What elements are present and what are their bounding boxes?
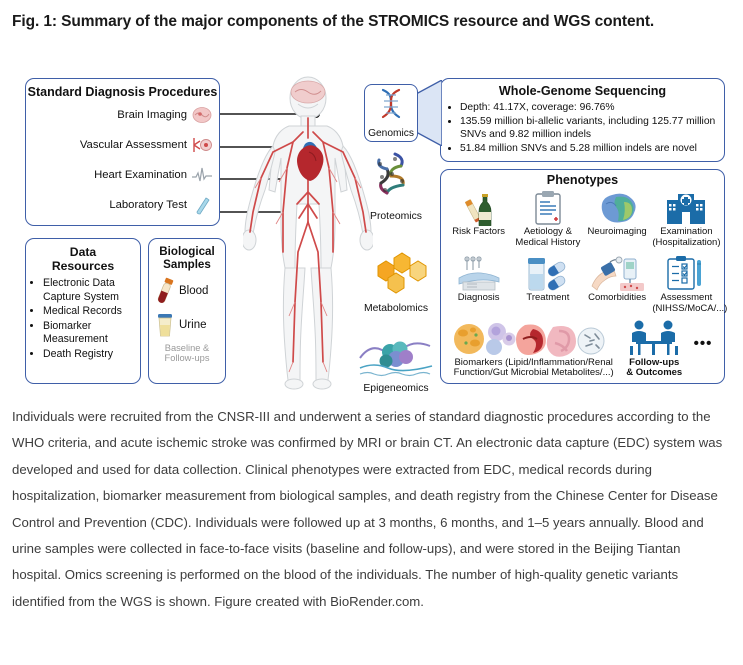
sdp-row-heart-examination[interactable]: Heart Examination [26, 161, 219, 189]
list-item: Depth: 41.17X, coverage: 96.76% [460, 101, 717, 115]
omics-genomics-label: Genomics [365, 128, 417, 139]
data-resources-list: Electronic Data Capture System Medical R… [26, 277, 140, 361]
phenotypes-title: Phenotypes [441, 173, 724, 187]
nucleosome-icon [356, 334, 436, 378]
phenotype-label: Assessment (NIHSS/MoCA/...) [652, 293, 720, 314]
phenotypes-row-1: Risk Factors Aetiology & Medical History [441, 188, 724, 248]
phenotype-assessment[interactable]: Assessment (NIHSS/MoCA/...) [652, 254, 720, 314]
biological-samples-title-line1: Biological [149, 245, 225, 258]
phenotype-label: Comorbidities [583, 293, 651, 304]
checklist-icon [652, 254, 720, 292]
biological-sample-blood[interactable]: Blood [149, 274, 225, 308]
interview-icon [624, 319, 684, 357]
phenotype-label: Biomarkers (Lipid/Inflammation/Renal Fun… [445, 358, 622, 379]
omics-epigenomics[interactable]: Epigeneomics [348, 334, 444, 394]
brain-scan-icon [583, 188, 651, 226]
phenotype-comorbidities[interactable]: Comorbidities [583, 254, 651, 304]
biological-sample-urine[interactable]: Urine [149, 308, 225, 342]
wgs-bullet-list: Depth: 41.17X, coverage: 96.76% 135.59 m… [441, 101, 724, 155]
sdp-label-brain-imaging: Brain Imaging [117, 109, 187, 121]
phenotype-neuroimaging[interactable]: Neuroimaging [583, 188, 651, 238]
phenotype-follow-ups-outcomes[interactable]: Follow-ups& Outcomes [624, 319, 684, 379]
urine-cup-icon [154, 310, 176, 340]
clipboard-icon [514, 188, 582, 226]
phenotype-label: Examination (Hospitalization) [652, 227, 720, 248]
phenotype-diagnosis[interactable]: Diagnosis [445, 254, 513, 304]
phenotype-label: Risk Factors [445, 227, 513, 238]
biological-samples-note: Baseline & Follow-ups [149, 343, 225, 364]
brain-icon [191, 105, 213, 125]
biological-samples-title: Biological Samples [149, 245, 225, 272]
standard-diagnosis-procedures-panel: Standard Diagnosis Procedures Brain Imag… [25, 78, 220, 226]
biological-sample-urine-label: Urine [179, 319, 206, 331]
sdp-row-vascular-assessment[interactable]: Vascular Assessment [26, 131, 219, 159]
figure-title: Fig. 1: Summary of the major components … [0, 0, 690, 34]
phenotype-label: Diagnosis [445, 293, 513, 304]
phenotype-label: Treatment [514, 293, 582, 304]
sdp-label-heart-examination: Heart Examination [94, 169, 187, 181]
whole-genome-sequencing-panel: Whole-Genome Sequencing Depth: 41.17X, c… [440, 78, 725, 162]
phenotype-biomarkers[interactable]: Biomarkers (Lipid/Inflammation/Renal Fun… [445, 319, 622, 379]
sdp-title: Standard Diagnosis Procedures [26, 85, 219, 99]
data-resources-title-line2: Resources [26, 259, 140, 273]
phenotype-label: Follow-ups& Outcomes [624, 358, 684, 379]
data-resources-panel: Data Resources Electronic Data Capture S… [25, 238, 141, 384]
list-item: 51.84 million SNVs and 5.28 million inde… [460, 142, 717, 156]
blood-pressure-icon [583, 254, 651, 292]
biological-samples-note-line2: Follow-ups [149, 353, 225, 364]
omics-genomics[interactable]: Genomics [364, 84, 418, 142]
phenotype-risk-factors[interactable]: Risk Factors [445, 188, 513, 238]
biological-sample-blood-label: Blood [179, 285, 208, 297]
cigarette-bottle-icon [445, 188, 513, 226]
list-item: Electronic Data Capture System [43, 277, 136, 304]
biological-samples-title-line2: Samples [149, 258, 225, 271]
phenotype-examination-hospitalization[interactable]: Examination (Hospitalization) [652, 188, 720, 248]
biological-samples-note-line1: Baseline & [149, 343, 225, 354]
list-item: Medical Records [43, 305, 136, 319]
sdp-label-vascular-assessment: Vascular Assessment [80, 139, 187, 151]
list-item: Death Registry [43, 348, 136, 362]
phenotype-treatment[interactable]: Treatment [514, 254, 582, 304]
list-item: Biomarker Measurement [43, 320, 136, 347]
omics-proteomics[interactable]: Proteomics [348, 150, 444, 222]
phenotype-aetiology-medical-history[interactable]: Aetiology & Medical History [514, 188, 582, 248]
omics-epigenomics-label: Epigeneomics [348, 383, 444, 394]
hexagon-molecules-icon [360, 252, 432, 298]
omics-metabolomics[interactable]: Metabolomics [348, 252, 444, 314]
phenotype-label: Neuroimaging [583, 227, 651, 238]
phenotype-label: Aetiology & Medical History [514, 227, 582, 248]
list-item: 135.59 million bi-allelic variants, incl… [460, 115, 717, 142]
ecg-icon [191, 165, 213, 185]
dna-helix-icon [371, 85, 411, 125]
phenotypes-panel: Phenotypes [440, 169, 725, 384]
sdp-row-laboratory-test[interactable]: Laboratory Test [26, 191, 219, 219]
vascular-ultrasound-icon [191, 135, 213, 155]
biological-samples-panel: Biological Samples Blood Urine Baseli [148, 238, 226, 384]
phenotypes-row-2: Diagnosis [441, 254, 724, 314]
phenotype-more[interactable]: ••• [686, 319, 720, 352]
data-resources-title-line1: Data [26, 245, 140, 259]
exam-table-icon [445, 254, 513, 292]
wgs-title: Whole-Genome Sequencing [441, 84, 724, 98]
data-resources-title: Data Resources [26, 245, 140, 273]
ellipsis-icon: ••• [686, 335, 720, 352]
blood-tube-icon [154, 276, 176, 306]
sdp-row-brain-imaging[interactable]: Brain Imaging [26, 101, 219, 129]
protein-structure-icon [365, 150, 427, 206]
genomics-to-wgs-funnel [416, 80, 442, 146]
biomarkers-icon [445, 319, 622, 357]
test-tube-icon [191, 195, 213, 215]
figure-caption: Individuals were recruited from the CNSR… [0, 404, 743, 615]
omics-proteomics-label: Proteomics [348, 211, 444, 222]
pills-icon [514, 254, 582, 292]
figure-canvas: Standard Diagnosis Procedures Brain Imag… [0, 62, 743, 402]
sdp-label-laboratory-test: Laboratory Test [109, 199, 187, 211]
omics-metabolomics-label: Metabolomics [348, 303, 444, 314]
hospital-icon [652, 188, 720, 226]
phenotypes-row-3: Biomarkers (Lipid/Inflammation/Renal Fun… [441, 315, 724, 379]
